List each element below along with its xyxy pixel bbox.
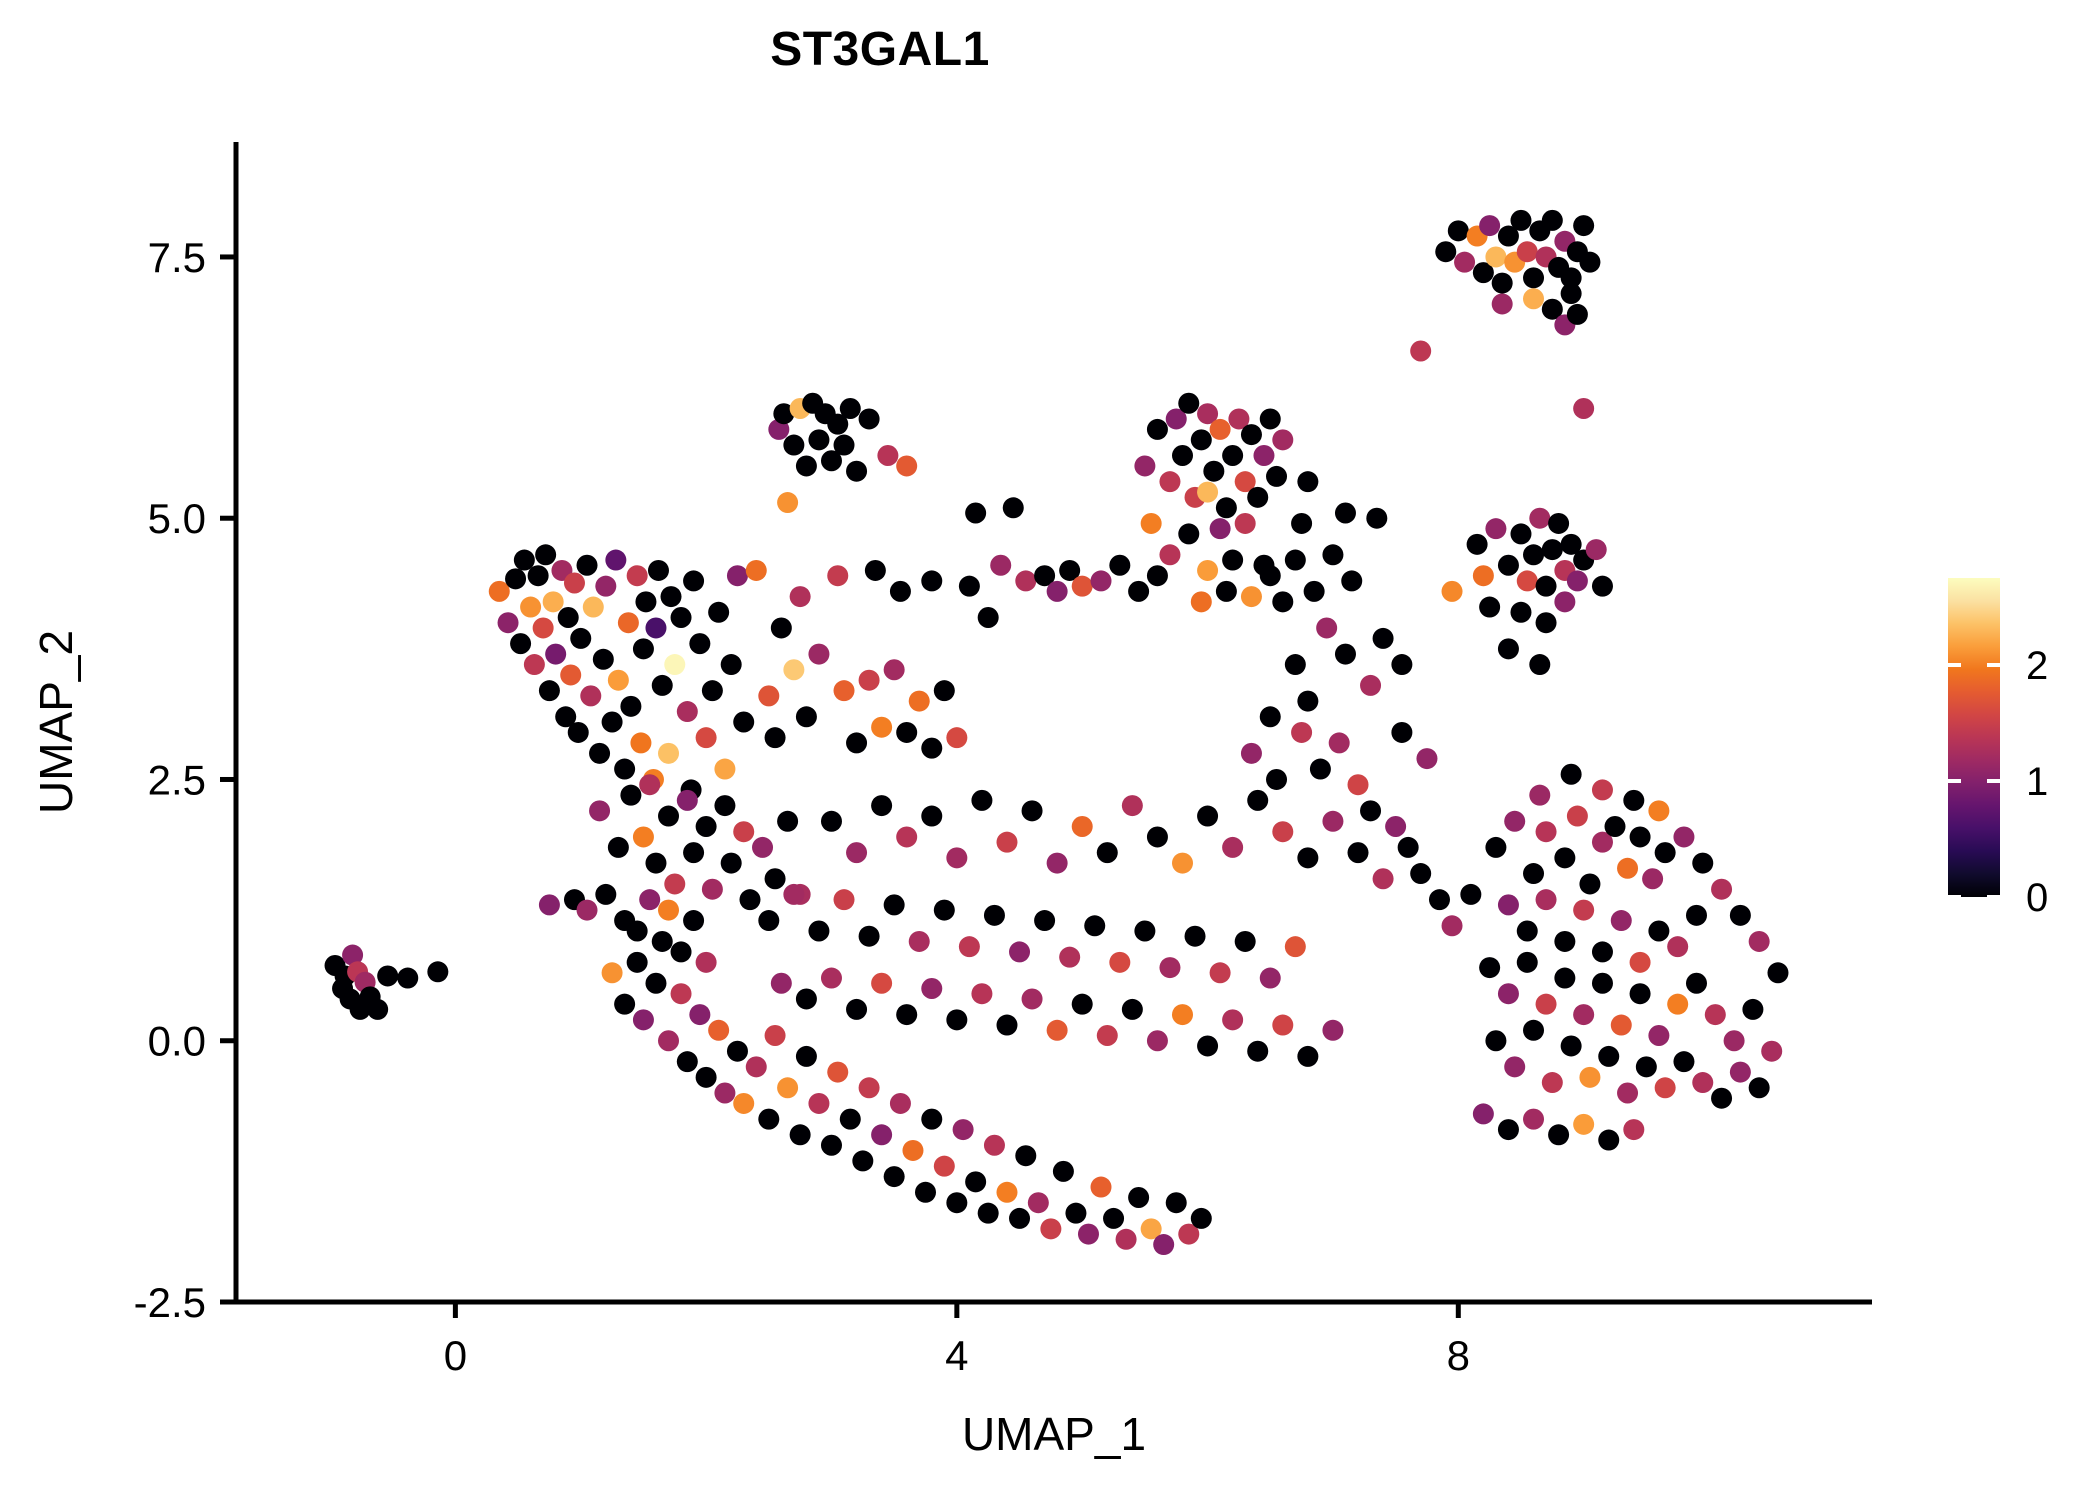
scatter-point — [545, 644, 566, 665]
scatter-point — [790, 1124, 811, 1145]
scatter-point — [934, 680, 955, 701]
scatter-point — [570, 628, 591, 649]
scatter-point — [577, 555, 598, 576]
scatter-point — [1648, 921, 1669, 942]
scatter-point — [714, 795, 735, 816]
scatter-point — [1479, 597, 1500, 618]
scatter-point — [1053, 1161, 1074, 1182]
scatter-point — [796, 1046, 817, 1067]
scatter-point — [593, 649, 614, 670]
scatter-point — [661, 586, 682, 607]
scatter-point — [1529, 785, 1550, 806]
scatter-point — [1542, 1072, 1563, 1093]
scatter-point — [1009, 1208, 1030, 1229]
scatter-point — [1348, 774, 1369, 795]
scatter-point — [777, 811, 798, 832]
scatter-point — [664, 873, 685, 894]
scatter-point — [996, 1182, 1017, 1203]
scatter-point — [1385, 816, 1406, 837]
scatter-point — [1348, 842, 1369, 863]
scatter-point — [1586, 539, 1607, 560]
scatter-point — [1147, 419, 1168, 440]
scatter-point — [1072, 994, 1093, 1015]
scatter-point — [1692, 853, 1713, 874]
scatter-point — [1724, 1030, 1745, 1051]
scatter-point — [840, 398, 861, 419]
scatter-point — [1097, 842, 1118, 863]
scatter-point — [1573, 215, 1594, 236]
scatter-point — [1510, 210, 1531, 231]
scatter-point — [1485, 246, 1506, 267]
scatter-point — [746, 560, 767, 581]
scatter-point — [645, 617, 666, 638]
scatter-point — [1592, 941, 1613, 962]
scatter-point — [1554, 931, 1575, 952]
scatter-point — [1003, 497, 1024, 518]
scatter-point — [1109, 555, 1130, 576]
scatter-point — [1598, 1046, 1619, 1067]
scatter-point — [758, 685, 779, 706]
scatter-point — [1504, 811, 1525, 832]
scatter-point — [1304, 581, 1325, 602]
scatter-point — [1203, 461, 1224, 482]
scatter-point — [1554, 591, 1575, 612]
scatter-point — [658, 806, 679, 827]
scatter-point — [1297, 471, 1318, 492]
scatter-point — [1260, 968, 1281, 989]
scatter-point — [834, 680, 855, 701]
scatter-point — [859, 926, 880, 947]
scatter-point — [645, 973, 666, 994]
scatter-point — [1222, 445, 1243, 466]
scatter-point — [1561, 764, 1582, 785]
scatter-point — [1667, 994, 1688, 1015]
scatter-point — [984, 905, 1005, 926]
scatter-point — [896, 826, 917, 847]
scatter-point — [633, 826, 654, 847]
colorbar-gradient — [1948, 578, 2000, 897]
scatter-point — [871, 1124, 892, 1145]
scatter-point — [520, 597, 541, 618]
x-tick-label: 4 — [945, 1332, 968, 1379]
scatter-point — [965, 502, 986, 523]
scatter-point — [1197, 1035, 1218, 1056]
scatter-point — [620, 785, 641, 806]
scatter-point — [608, 670, 629, 691]
scatter-point — [733, 821, 754, 842]
scatter-point — [1536, 612, 1557, 633]
scatter-point — [1122, 999, 1143, 1020]
scatter-point — [1485, 518, 1506, 539]
scatter-point — [884, 1166, 905, 1187]
scatter-point — [1498, 638, 1519, 659]
scatter-point — [1479, 957, 1500, 978]
scatter-point — [498, 612, 519, 633]
scatter-point — [1592, 973, 1613, 994]
scatter-point — [1253, 445, 1274, 466]
scatter-point — [1448, 220, 1469, 241]
scatter-point — [834, 889, 855, 910]
scatter-point — [1485, 837, 1506, 858]
scatter-point — [877, 445, 898, 466]
scatter-point — [1523, 1020, 1544, 1041]
scatter-point — [564, 573, 585, 594]
scatter-point — [1617, 1082, 1638, 1103]
scatter-point — [1617, 858, 1638, 879]
scatter-point — [1479, 215, 1500, 236]
scatter-point — [921, 1109, 942, 1130]
scatter-point — [1536, 994, 1557, 1015]
scatter-point — [696, 1067, 717, 1088]
scatter-point — [739, 889, 760, 910]
scatter-point — [1410, 341, 1431, 362]
scatter-point — [1022, 800, 1043, 821]
scatter-point — [1222, 550, 1243, 571]
scatter-point — [978, 607, 999, 628]
scatter-point — [1335, 644, 1356, 665]
scatter-point — [510, 633, 531, 654]
scatter-point — [884, 894, 905, 915]
scatter-point — [859, 1077, 880, 1098]
scatter-point — [1147, 565, 1168, 586]
scatter-point — [821, 1135, 842, 1156]
axes-layer: -2.50.02.55.07.5048UMAP_1UMAP_2 — [30, 142, 1872, 1460]
scatter-point — [1454, 252, 1475, 273]
scatter-point — [1047, 581, 1068, 602]
scatter-point — [1172, 853, 1193, 874]
scatter-point — [1084, 915, 1105, 936]
scatter-point — [1247, 487, 1268, 508]
scatter-point — [1141, 513, 1162, 534]
scatter-point — [664, 654, 685, 675]
scatter-point — [1692, 1072, 1713, 1093]
scatter-point — [702, 680, 723, 701]
scatter-point — [1492, 273, 1513, 294]
scatter-point — [671, 941, 692, 962]
scatter-point — [1523, 544, 1544, 565]
scatter-point — [648, 560, 669, 581]
scatter-point — [1047, 1020, 1068, 1041]
scatter-point — [1065, 1203, 1086, 1224]
scatter-point — [1642, 868, 1663, 889]
scatter-point — [721, 654, 742, 675]
scatter-point — [1398, 837, 1419, 858]
scatter-point — [1573, 1114, 1594, 1135]
scatter-point — [1391, 654, 1412, 675]
scatter-point — [595, 576, 616, 597]
scatter-point — [777, 1077, 798, 1098]
scatter-point — [1579, 1067, 1600, 1088]
scatter-point — [683, 910, 704, 931]
scatter-point — [808, 921, 829, 942]
scatter-point — [689, 633, 710, 654]
scatter-point — [1210, 962, 1231, 983]
scatter-point — [671, 983, 692, 1004]
scatter-point — [984, 1135, 1005, 1156]
scatter-point — [1742, 999, 1763, 1020]
scatter-point — [1260, 706, 1281, 727]
scatter-point — [1686, 905, 1707, 926]
scatter-point — [1272, 429, 1293, 450]
scatter-point — [971, 790, 992, 811]
scatter-point — [1297, 691, 1318, 712]
scatter-point — [639, 889, 660, 910]
scatter-point — [543, 591, 564, 612]
scatter-point — [533, 617, 554, 638]
scatter-point — [1059, 947, 1080, 968]
scatter-point — [1247, 1041, 1268, 1062]
scatter-point — [528, 565, 549, 586]
scatter-point — [721, 853, 742, 874]
scatter-point — [909, 931, 930, 952]
y-tick-label: -2.5 — [134, 1279, 206, 1326]
scatter-point — [589, 743, 610, 764]
scatter-points-layer — [325, 210, 1789, 1255]
scatter-point — [1598, 1130, 1619, 1151]
scatter-point — [1548, 513, 1569, 534]
scatter-point — [1191, 1208, 1212, 1229]
scatter-point — [602, 962, 623, 983]
scatter-point — [1216, 581, 1237, 602]
scatter-point — [852, 1150, 873, 1171]
scatter-point — [727, 565, 748, 586]
scatter-point — [808, 644, 829, 665]
scatter-point — [796, 988, 817, 1009]
scatter-point — [1498, 1119, 1519, 1140]
scatter-point — [946, 727, 967, 748]
scatter-point — [1015, 1145, 1036, 1166]
scatter-point — [1147, 1030, 1168, 1051]
scatter-point — [1241, 424, 1262, 445]
scatter-point — [633, 638, 654, 659]
scatter-point — [1429, 889, 1450, 910]
scatter-point — [1191, 591, 1212, 612]
scatter-point — [1504, 1056, 1525, 1077]
scatter-point — [1097, 1025, 1118, 1046]
scatter-point — [645, 853, 666, 874]
scatter-point — [1686, 973, 1707, 994]
scatter-point — [934, 900, 955, 921]
scatter-point — [1028, 1192, 1049, 1213]
scatter-point — [1260, 565, 1281, 586]
scatter-point — [1648, 1025, 1669, 1046]
scatter-point — [1667, 936, 1688, 957]
scatter-point — [896, 455, 917, 476]
scatter-point — [758, 910, 779, 931]
x-axis-title: UMAP_1 — [962, 1408, 1146, 1460]
scatter-point — [1310, 759, 1331, 780]
scatter-point — [696, 816, 717, 837]
scatter-point — [652, 675, 673, 696]
scatter-point — [1285, 654, 1306, 675]
scatter-point — [635, 591, 656, 612]
scatter-point — [1159, 957, 1180, 978]
scatter-point — [871, 717, 892, 738]
x-tick-label: 0 — [444, 1332, 467, 1379]
scatter-point — [1536, 889, 1557, 910]
scatter-point — [696, 952, 717, 973]
scatter-point — [618, 612, 639, 633]
colorbar-tick-label: 0 — [2026, 876, 2048, 920]
scatter-point — [746, 1056, 767, 1077]
scatter-point — [583, 597, 604, 618]
scatter-point — [1266, 466, 1287, 487]
scatter-point — [959, 576, 980, 597]
scatter-point — [1091, 1177, 1112, 1198]
scatter-point — [1561, 1035, 1582, 1056]
scatter-point — [1705, 1004, 1726, 1025]
scatter-point — [1630, 952, 1651, 973]
scatter-point — [1730, 905, 1751, 926]
scatter-point — [1510, 602, 1531, 623]
scatter-point — [630, 732, 651, 753]
y-tick-label: 0.0 — [148, 1018, 206, 1065]
scatter-point — [1761, 1041, 1782, 1062]
scatter-point — [846, 461, 867, 482]
scatter-point — [1623, 790, 1644, 811]
scatter-point — [1523, 288, 1544, 309]
scatter-point — [1047, 853, 1068, 874]
scatter-point — [1285, 936, 1306, 957]
scatter-point — [1517, 921, 1538, 942]
scatter-point — [1498, 555, 1519, 576]
scatter-point — [846, 842, 867, 863]
scatter-point — [1134, 921, 1155, 942]
scatter-point — [821, 968, 842, 989]
scatter-point — [1655, 842, 1676, 863]
scatter-point — [1134, 455, 1155, 476]
scatter-point — [758, 1109, 779, 1130]
scatter-point — [1316, 617, 1337, 638]
scatter-point — [1241, 743, 1262, 764]
scatter-point — [846, 732, 867, 753]
scatter-point — [1040, 1218, 1061, 1239]
scatter-point — [1291, 722, 1312, 743]
scatter-point — [1222, 837, 1243, 858]
scatter-point — [1191, 429, 1212, 450]
scatter-point — [1416, 748, 1437, 769]
scatter-point — [1329, 732, 1350, 753]
scatter-point — [733, 1093, 754, 1114]
scatter-point — [1260, 408, 1281, 429]
scatter-point — [1391, 722, 1412, 743]
scatter-point — [1297, 847, 1318, 868]
scatter-point — [1730, 1062, 1751, 1083]
scatter-point — [1341, 570, 1362, 591]
scatter-point — [1272, 821, 1293, 842]
scatter-point — [377, 965, 398, 986]
scatter-point — [1335, 502, 1356, 523]
scatter-point — [1536, 576, 1557, 597]
scatter-point — [652, 931, 673, 952]
scatter-point — [1091, 570, 1112, 591]
scatter-point — [658, 1030, 679, 1051]
scatter-point — [1561, 283, 1582, 304]
scatter-point — [535, 544, 556, 565]
umap-feature-plot: ST3GAL1 -2.50.02.55.07.5048UMAP_1UMAP_2 … — [0, 0, 2100, 1500]
scatter-point — [1285, 550, 1306, 571]
scatter-point — [627, 952, 648, 973]
scatter-point — [1492, 293, 1513, 314]
scatter-point — [1078, 1224, 1099, 1245]
scatter-point — [1567, 806, 1588, 827]
scatter-point — [959, 936, 980, 957]
scatter-point — [1159, 471, 1180, 492]
scatter-point — [589, 800, 610, 821]
scatter-point — [1573, 900, 1594, 921]
scatter-point — [921, 806, 942, 827]
scatter-point — [1210, 518, 1231, 539]
scatter-point — [1103, 1208, 1124, 1229]
scatter-point — [890, 581, 911, 602]
scatter-point — [1579, 873, 1600, 894]
scatter-point — [1272, 591, 1293, 612]
scatter-point — [921, 978, 942, 999]
scatter-point — [1015, 570, 1036, 591]
scatter-point — [1272, 1015, 1293, 1036]
scatter-point — [752, 837, 773, 858]
scatter-point — [765, 868, 786, 889]
y-tick-label: 2.5 — [148, 756, 206, 803]
scatter-point — [627, 565, 648, 586]
scatter-point — [1322, 544, 1343, 565]
scatter-point — [1247, 790, 1268, 811]
scatter-point — [580, 685, 601, 706]
scatter-point — [1630, 826, 1651, 847]
scatter-point — [909, 691, 930, 712]
scatter-point — [1435, 241, 1456, 262]
scatter-point — [1241, 586, 1262, 607]
scatter-point — [790, 586, 811, 607]
scatter-point — [827, 1062, 848, 1083]
scatter-point — [1410, 863, 1431, 884]
scatter-point — [771, 617, 792, 638]
scatter-point — [1072, 576, 1093, 597]
scatter-point — [1322, 1020, 1343, 1041]
scatter-point — [524, 654, 545, 675]
scatter-point — [1360, 675, 1381, 696]
scatter-point — [702, 879, 723, 900]
scatter-point — [1166, 1192, 1187, 1213]
scatter-point — [614, 759, 635, 780]
scatter-point — [896, 1004, 917, 1025]
scatter-point — [1366, 508, 1387, 529]
scatter-point — [427, 961, 448, 982]
scatter-point — [1673, 826, 1694, 847]
scatter-point — [1460, 884, 1481, 905]
scatter-point — [1611, 910, 1632, 931]
scatter-point — [367, 999, 388, 1020]
scatter-point — [1655, 1077, 1676, 1098]
scatter-point — [1529, 508, 1550, 529]
scatter-point — [915, 1182, 936, 1203]
scatter-point — [965, 1171, 986, 1192]
scatter-point — [560, 664, 581, 685]
scatter-point — [978, 1203, 999, 1224]
scatter-point — [1235, 931, 1256, 952]
scatter-point — [1128, 581, 1149, 602]
scatter-point — [558, 607, 579, 628]
scatter-point — [1573, 1004, 1594, 1025]
scatter-chart-svg: -2.50.02.55.07.5048UMAP_1UMAP_2 012 — [0, 0, 2100, 1500]
scatter-point — [934, 1156, 955, 1177]
scatter-point — [1592, 779, 1613, 800]
scatter-point — [627, 921, 648, 942]
scatter-point — [577, 900, 598, 921]
scatter-point — [846, 999, 867, 1020]
scatter-point — [1473, 1103, 1494, 1124]
scatter-point — [1373, 868, 1394, 889]
